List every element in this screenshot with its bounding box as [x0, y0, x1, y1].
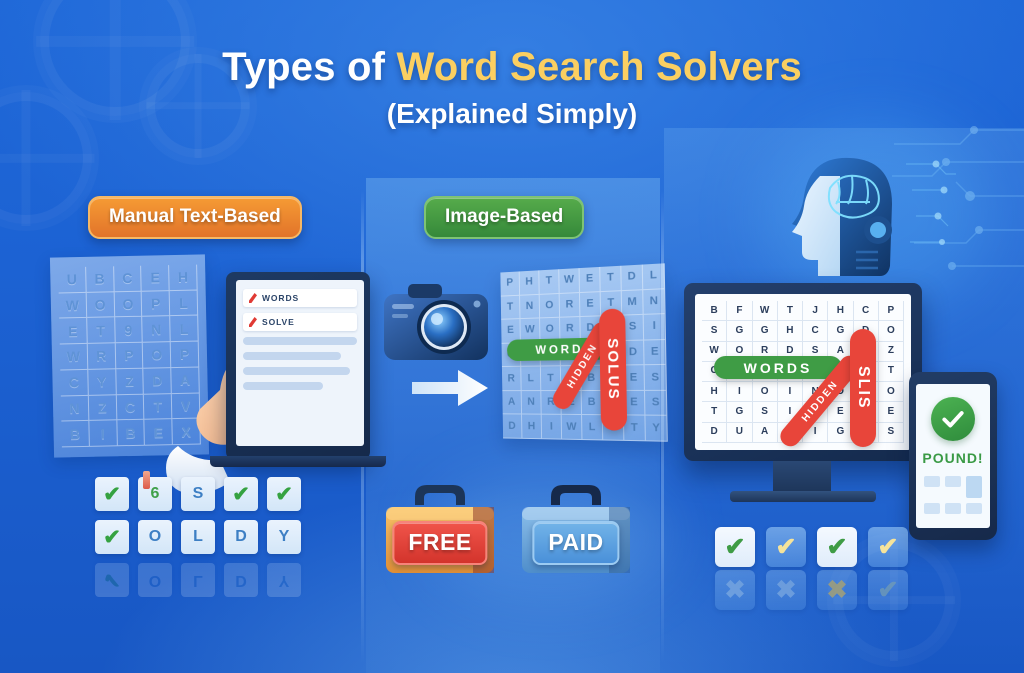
tablet-device[interactable]: WORDS SOLVE	[226, 272, 370, 460]
grid-letter-cell: Z	[116, 369, 144, 395]
grid-letter-cell: T	[778, 301, 803, 321]
result-check-tile-row: ✔✔✔✔	[715, 527, 908, 567]
check-icon: ✔	[817, 527, 857, 567]
grid-letter-cell: H	[828, 301, 853, 321]
grid-letter-cell: T	[501, 295, 521, 320]
monitor-stand	[730, 491, 876, 502]
letter-tile: S	[181, 477, 215, 511]
toolbox-free-label: FREE	[392, 521, 487, 565]
grid-letter-cell: A	[502, 391, 522, 415]
grid-letter-cell: Z	[879, 342, 904, 362]
grid-letter-cell: I	[542, 415, 562, 440]
grid-letter-cell: 9	[115, 317, 143, 343]
grid-letter-cell: D	[702, 423, 727, 443]
letter-tile: L	[181, 520, 215, 554]
grid-letter-cell: E	[580, 292, 601, 317]
highlight-vertical-solus: SOLUS	[599, 308, 627, 430]
panel-manual-text-based: UBCEHWOOPLET9NLWRPOPCYZDANZCTVBIBEX	[30, 178, 362, 673]
grid-letter-cell: S	[753, 402, 778, 422]
grid-letter-cell: N	[643, 289, 665, 315]
grid-letter-cell: N	[61, 395, 89, 421]
list-item-label: SOLVE	[262, 317, 295, 327]
grid-letter-cell: G	[727, 321, 752, 341]
grid-letter-cell: E	[580, 267, 601, 293]
cross-icon: ✖	[715, 570, 755, 610]
letter-tile: O	[138, 563, 172, 597]
grid-letter-cell: U	[58, 267, 86, 293]
check-circle-icon	[931, 397, 975, 441]
check-icon: ✔	[868, 570, 908, 610]
grid-letter-cell: W	[562, 415, 583, 440]
grid-letter-cell: R	[88, 343, 116, 369]
phone-device[interactable]: POUND!	[909, 372, 997, 540]
grid-letter-cell: N	[520, 294, 540, 319]
grid-letter-cell: E	[59, 318, 87, 344]
marker-pen-icon	[143, 471, 150, 489]
grid-letter-cell: O	[879, 321, 904, 341]
grid-letter-cell: C	[803, 321, 828, 341]
placeholder-bar	[243, 367, 350, 375]
grid-letter-cell: I	[89, 421, 117, 447]
grid-letter-cell: E	[142, 265, 170, 291]
grid-letter-cell: G	[753, 321, 778, 341]
grid-letter-cell: F	[727, 301, 752, 321]
letter-tile: O	[138, 520, 172, 554]
grid-letter-cell: T	[702, 402, 727, 422]
camera-icon	[382, 276, 490, 368]
grid-letter-cell: I	[778, 382, 803, 402]
letter-tile: L	[181, 563, 215, 597]
grid-letter-cell: A	[753, 423, 778, 443]
grid-letter-cell: Y	[645, 416, 667, 442]
grid-letter-cell: Y	[88, 369, 116, 395]
page-title-plain: Types of	[222, 45, 396, 89]
list-item-label: WORDS	[262, 293, 299, 303]
desktop-monitor[interactable]: BFWTJHCPSGGHCGDOWORDSAEZCFERFLNTHIOINDIO…	[684, 283, 922, 461]
tablet-screen: WORDS SOLVE	[236, 280, 364, 446]
grid-letter-cell: C	[116, 394, 144, 420]
grid-letter-cell: H	[522, 415, 542, 439]
grid-letter-cell: D	[503, 415, 523, 439]
toolbox-free[interactable]: FREE	[381, 477, 499, 581]
letter-tile: Y	[267, 520, 301, 554]
grid-letter-cell: B	[86, 266, 114, 292]
grid-letter-cell: C	[854, 301, 879, 321]
grid-letter-cell: H	[169, 265, 197, 291]
grid-letter-cell: T	[539, 269, 559, 294]
ai-brain-head-icon	[786, 146, 956, 276]
placeholder-bar	[243, 382, 323, 390]
grid-letter-cell: L	[521, 367, 541, 391]
phone-status-text: POUND!	[922, 450, 983, 466]
grid-letter-cell: B	[61, 421, 89, 447]
letter-tile-reflection: ✔OLDY	[95, 563, 301, 597]
toolbox-paid-label: PAID	[532, 521, 619, 565]
toolbox-paid[interactable]: PAID	[517, 477, 635, 581]
placeholder-bar	[243, 352, 341, 360]
cross-icon: ✖	[817, 570, 857, 610]
grid-letter-cell: B	[117, 420, 145, 446]
grid-letter-cell: G	[727, 402, 752, 422]
grid-letter-cell: P	[142, 291, 170, 317]
grid-letter-cell: S	[879, 423, 904, 443]
grid-letter-cell: N	[522, 391, 542, 415]
check-icon: ✔	[95, 563, 129, 597]
grid-letter-cell: C	[60, 370, 88, 396]
grid-letter-cell: W	[60, 344, 88, 370]
grid-letter-cell: S	[645, 365, 667, 391]
grid-letter-cell: E	[879, 402, 904, 422]
grid-letter-cell: T	[600, 266, 622, 292]
check-icon: ✔	[267, 477, 301, 511]
grid-letter-cell: O	[753, 382, 778, 402]
grid-letter-cell: O	[540, 294, 560, 319]
pencil-icon	[249, 293, 257, 303]
placeholder-bar	[243, 337, 357, 345]
arrow-right-icon	[412, 368, 488, 408]
page-title: Types of Word Search Solvers	[0, 46, 1024, 89]
image-based-word-grid: PHTWETDLTNORETMNEWORDESIGITSEODERLTEBLES…	[500, 263, 667, 441]
check-icon: ✔	[766, 527, 806, 567]
grid-letter-cell: Z	[89, 395, 117, 421]
grid-letter-cell: D	[621, 265, 643, 291]
grid-letter-cell: W	[559, 268, 580, 293]
highlight-label: WORDS	[744, 360, 813, 376]
grid-letter-cell: T	[624, 416, 646, 441]
grid-letter-cell: W	[753, 301, 778, 321]
grid-letter-cell: W	[59, 293, 87, 319]
tablet-base	[210, 456, 386, 467]
page-subtitle: (Explained Simply)	[0, 98, 1024, 130]
header: Types of Word Search Solvers (Explained …	[0, 46, 1024, 130]
phone-placeholder-blocks	[924, 476, 982, 514]
grid-letter-cell: S	[702, 321, 727, 341]
infographic-canvas: Types of Word Search Solvers (Explained …	[0, 0, 1024, 673]
grid-letter-cell: E	[644, 340, 666, 366]
grid-letter-cell: U	[727, 423, 752, 443]
highlight-horizontal-words: WORDS	[714, 356, 842, 379]
grid-letter-cell: O	[86, 292, 114, 318]
result-check-tile-reflection: ✖✖✖✔	[715, 570, 908, 610]
cross-icon: ✖	[766, 570, 806, 610]
highlight-label: SOLUS	[605, 338, 621, 401]
grid-letter-cell: P	[115, 343, 143, 369]
grid-letter-cell: R	[502, 367, 522, 391]
grid-letter-cell: S	[645, 391, 667, 417]
monitor-neck	[773, 461, 831, 493]
grid-letter-cell: I	[644, 314, 666, 340]
grid-letter-cell: I	[727, 382, 752, 402]
grid-letter-cell: T	[87, 318, 115, 344]
grid-letter-cell: C	[114, 266, 142, 292]
grid-letter-cell: B	[702, 301, 727, 321]
letter-tile-row: ✔6S✔✔	[95, 477, 301, 511]
grid-letter-cell: H	[520, 270, 540, 295]
check-icon: ✔	[95, 477, 129, 511]
grid-letter-cell: M	[622, 290, 644, 316]
grid-letter-cell: L	[643, 263, 665, 289]
highlight-label: SLIS	[855, 366, 871, 410]
letter-tile: Y	[267, 563, 301, 597]
list-item[interactable]: WORDS	[243, 289, 357, 307]
monitor-screen: BFWTJHCPSGGHCGDOWORDSAEZCFERFLNTHIOINDIO…	[695, 294, 911, 450]
pencil-icon	[249, 317, 257, 327]
grid-letter-cell: H	[702, 382, 727, 402]
letter-tile: D	[224, 520, 258, 554]
grid-letter-cell: J	[803, 301, 828, 321]
grid-letter-cell: T	[879, 362, 904, 382]
grid-letter-cell: L	[170, 290, 198, 316]
grid-letter-cell: R	[560, 293, 581, 318]
grid-letter-cell: O	[879, 382, 904, 402]
check-icon: ✔	[868, 527, 908, 567]
phone-screen: POUND!	[916, 384, 990, 528]
highlight-vertical-slis: SLIS	[850, 329, 876, 447]
letter-tile-row: ✔OLDY	[95, 520, 301, 554]
grid-letter-cell: O	[114, 291, 142, 317]
check-icon: ✔	[224, 477, 258, 511]
check-icon: ✔	[95, 520, 129, 554]
badge-image-based[interactable]: Image-Based	[424, 196, 584, 239]
grid-letter-cell: H	[778, 321, 803, 341]
badge-image-label: Image-Based	[445, 206, 563, 227]
check-icon: ✔	[715, 527, 755, 567]
letter-tile: D	[224, 563, 258, 597]
grid-letter-cell: P	[500, 271, 520, 296]
grid-letter-cell: P	[879, 301, 904, 321]
list-item[interactable]: SOLVE	[243, 313, 357, 331]
page-title-accent: Word Search Solvers	[396, 45, 801, 89]
ai-word-grid: BFWTJHCPSGGHCGDOWORDSAEZCFERFLNTHIOINDIO…	[702, 301, 904, 443]
